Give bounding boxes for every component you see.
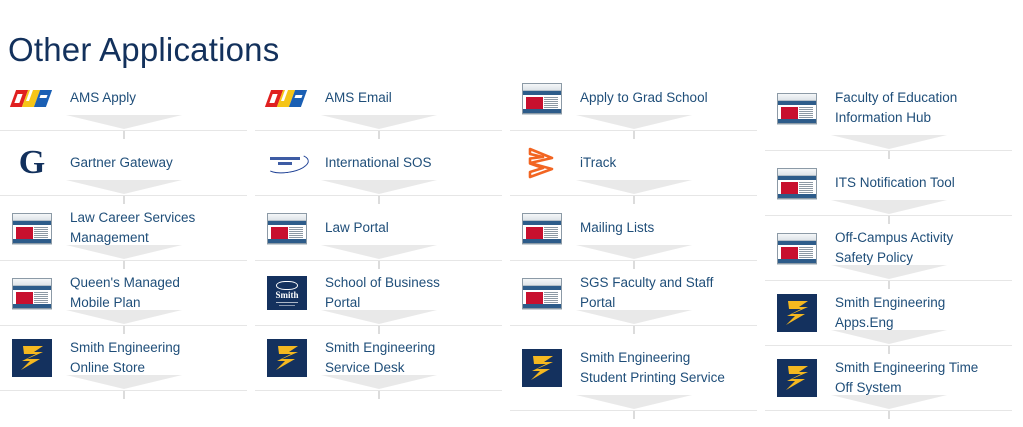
application-cell: Smith Engineering Service Desk [255, 326, 502, 391]
applications-column: AMS ApplyGGartner GatewayLaw Career Serv… [0, 66, 247, 411]
application-link[interactable]: ITS Notification Tool [765, 151, 1012, 215]
page-title: Other Applications [8, 32, 279, 68]
chevron-down-icon [831, 409, 947, 423]
application-icon [520, 146, 564, 180]
application-link[interactable]: Smith Engineering Service Desk [255, 326, 502, 390]
web-page-icon [12, 213, 52, 244]
web-page-icon [777, 168, 817, 199]
smith-engineering-logo-icon [522, 349, 562, 387]
application-label: Smith Engineering Apps.Eng [835, 293, 985, 333]
smith-engineering-logo-icon [267, 339, 307, 377]
smith-business-logo-icon: Smith [267, 276, 307, 310]
application-link[interactable]: Smith Engineering Online Store [0, 326, 247, 390]
application-cell: Mailing Lists [510, 196, 757, 261]
application-link[interactable]: Law Career Services Management [0, 196, 247, 260]
application-label: Gartner Gateway [70, 153, 173, 173]
application-label: ITS Notification Tool [835, 173, 955, 193]
application-icon: G [10, 146, 54, 180]
chevron-down-icon [321, 389, 437, 403]
application-label: Smith Engineering Student Printing Servi… [580, 348, 730, 388]
application-cell: GGartner Gateway [0, 131, 247, 196]
application-link[interactable]: Queen's Managed Mobile Plan [0, 261, 247, 325]
application-icon [265, 211, 309, 245]
application-cell: Off-Campus Activity Safety Policy [765, 216, 1012, 281]
application-cell: Law Career Services Management [0, 196, 247, 261]
other-applications-page: Other Applications AMS ApplyGGartner Gat… [0, 0, 1023, 418]
web-page-icon [522, 278, 562, 309]
web-page-icon [267, 213, 307, 244]
application-icon [265, 146, 309, 180]
applications-column: Faculty of Education Information HubITS … [765, 66, 1012, 411]
application-icon [520, 351, 564, 385]
caret-tick [123, 391, 124, 399]
applications-column: AMS EmailInternational SOSLaw PortalSmit… [255, 66, 502, 411]
application-link[interactable]: Smith Engineering Student Printing Servi… [510, 326, 757, 410]
application-icon: Smith [265, 276, 309, 310]
application-icon [10, 81, 54, 115]
application-cell: AMS Apply [0, 66, 247, 131]
application-label: AMS Email [325, 88, 392, 108]
application-label: SGS Faculty and Staff Portal [580, 273, 730, 313]
application-icon [10, 276, 54, 310]
application-link[interactable]: Law Portal [255, 196, 502, 260]
application-label: Off-Campus Activity Safety Policy [835, 228, 985, 268]
application-icon [520, 81, 564, 115]
applications-grid: AMS ApplyGGartner GatewayLaw Career Serv… [0, 66, 1023, 411]
smith-engineering-logo-icon [777, 294, 817, 332]
application-icon [265, 81, 309, 115]
web-page-icon [777, 233, 817, 264]
application-label: Smith Engineering Time Off System [835, 358, 985, 398]
application-link[interactable]: AMS Email [255, 66, 502, 130]
gartner-logo-icon: G [12, 146, 52, 180]
application-icon [775, 361, 819, 395]
applications-column: Apply to Grad SchooliTrackMailing ListsS… [510, 66, 757, 411]
application-link[interactable]: Smith Engineering Time Off System [765, 346, 1012, 410]
application-cell: SmithSchool of Business Portal [255, 261, 502, 326]
application-icon [775, 166, 819, 200]
application-cell: SGS Faculty and Staff Portal [510, 261, 757, 326]
ams-logo-icon [13, 90, 51, 107]
application-label: International SOS [325, 153, 432, 173]
web-page-icon [12, 278, 52, 309]
application-link[interactable]: SmithSchool of Business Portal [255, 261, 502, 325]
application-cell: Apply to Grad School [510, 66, 757, 131]
application-icon [520, 276, 564, 310]
application-label: Smith Engineering Service Desk [325, 338, 475, 378]
application-label: iTrack [580, 153, 616, 173]
application-icon [10, 211, 54, 245]
application-icon [775, 296, 819, 330]
application-link[interactable]: Mailing Lists [510, 196, 757, 260]
web-page-icon [522, 213, 562, 244]
application-cell: International SOS [255, 131, 502, 196]
application-link[interactable]: Off-Campus Activity Safety Policy [765, 216, 1012, 280]
caret-tick [378, 391, 379, 399]
application-label: Apply to Grad School [580, 88, 708, 108]
application-cell: Smith Engineering Student Printing Servi… [510, 326, 757, 411]
application-label: AMS Apply [70, 88, 136, 108]
application-cell: Law Portal [255, 196, 502, 261]
itrack-logo-icon [525, 146, 559, 180]
chevron-down-icon [576, 409, 692, 423]
application-cell: AMS Email [255, 66, 502, 131]
application-cell: Smith Engineering Online Store [0, 326, 247, 391]
application-link[interactable]: SGS Faculty and Staff Portal [510, 261, 757, 325]
application-label: Law Portal [325, 218, 389, 238]
application-cell: Smith Engineering Time Off System [765, 346, 1012, 411]
application-link[interactable]: Faculty of Education Information Hub [765, 66, 1012, 150]
international-sos-logo-icon [265, 152, 309, 174]
smith-engineering-logo-icon [777, 359, 817, 397]
application-label: Smith Engineering Online Store [70, 338, 220, 378]
application-cell: ITS Notification Tool [765, 151, 1012, 216]
web-page-icon [777, 93, 817, 124]
chevron-down-icon [66, 389, 182, 403]
application-label: Law Career Services Management [70, 208, 220, 248]
application-link[interactable]: Smith Engineering Apps.Eng [765, 281, 1012, 345]
application-label: Faculty of Education Information Hub [835, 88, 985, 128]
smith-engineering-logo-icon [12, 339, 52, 377]
application-label: Mailing Lists [580, 218, 654, 238]
application-link[interactable]: International SOS [255, 131, 502, 195]
application-icon [10, 341, 54, 375]
web-page-icon [522, 83, 562, 114]
application-cell: iTrack [510, 131, 757, 196]
application-link[interactable]: AMS Apply [0, 66, 247, 130]
application-icon [775, 231, 819, 265]
application-cell: Smith Engineering Apps.Eng [765, 281, 1012, 346]
application-icon [775, 91, 819, 125]
application-icon [520, 211, 564, 245]
ams-logo-icon [268, 90, 306, 107]
application-cell: Faculty of Education Information Hub [765, 66, 1012, 151]
application-link[interactable]: iTrack [510, 131, 757, 195]
application-label: School of Business Portal [325, 273, 475, 313]
application-icon [265, 341, 309, 375]
application-link[interactable]: GGartner Gateway [0, 131, 247, 195]
application-label: Queen's Managed Mobile Plan [70, 273, 220, 313]
application-link[interactable]: Apply to Grad School [510, 66, 757, 130]
application-cell: Queen's Managed Mobile Plan [0, 261, 247, 326]
